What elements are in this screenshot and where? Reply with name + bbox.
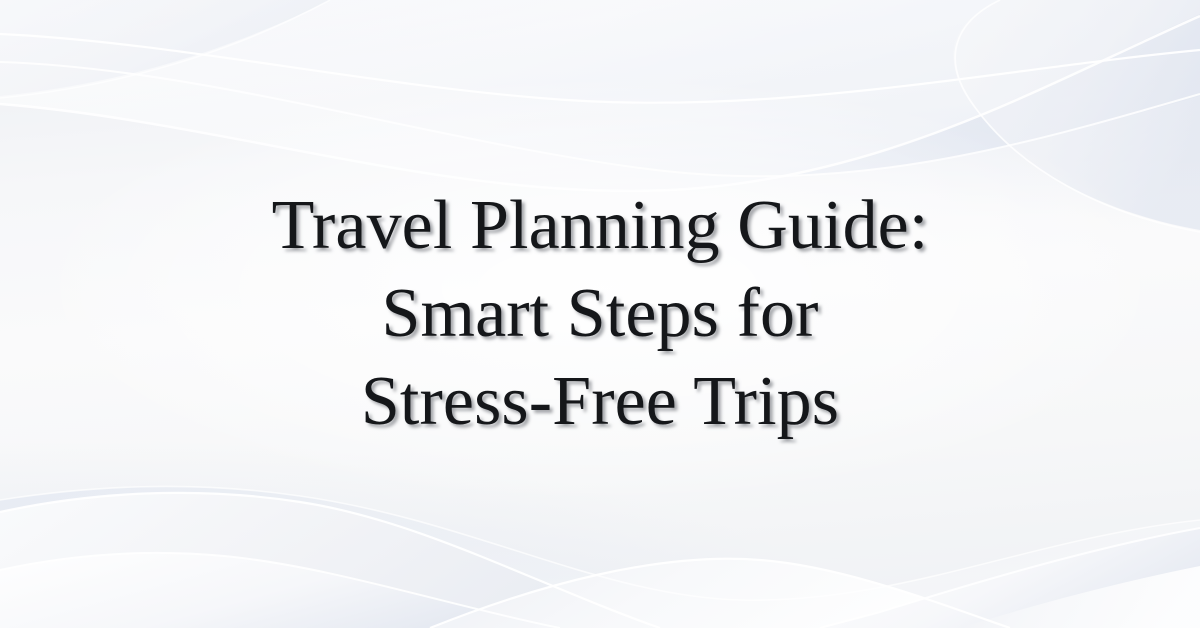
title-line-2: Smart Steps for [272,270,929,358]
headline-container: Travel Planning Guide: Smart Steps for S… [0,0,1200,628]
title-line-3: Stress-Free Trips [272,358,929,446]
title-card: Travel Planning Guide: Smart Steps for S… [0,0,1200,628]
page-title: Travel Planning Guide: Smart Steps for S… [272,182,929,446]
title-line-1: Travel Planning Guide: [272,182,929,270]
